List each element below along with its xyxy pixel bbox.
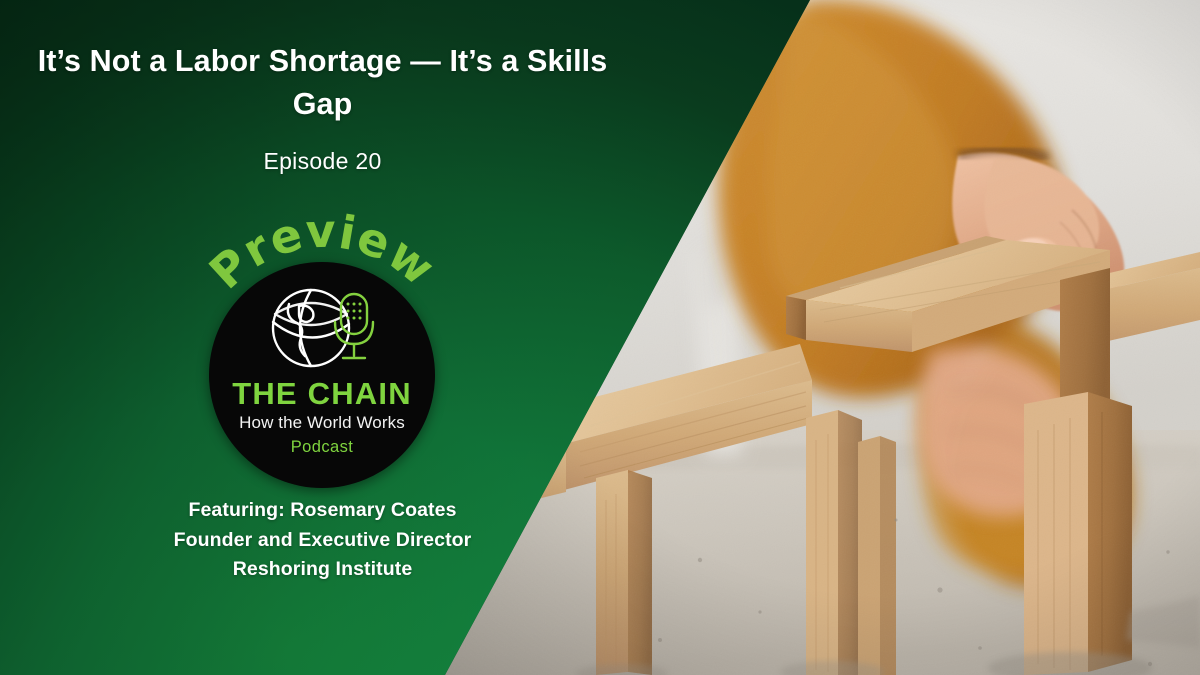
- featuring-block: Featuring: Rosemary Coates Founder and E…: [0, 496, 645, 585]
- format-label: Podcast: [209, 439, 435, 456]
- brand-tagline: How the World Works: [209, 414, 435, 431]
- microphone-grille-dots: [347, 303, 362, 320]
- guest-name-line: Featuring: Rosemary Coates: [0, 496, 645, 526]
- guest-role-line: Founder and Executive Director: [0, 526, 645, 556]
- page-title: It’s Not a Labor Shortage — It’s a Skill…: [0, 40, 645, 127]
- brand-name: THE CHAIN: [209, 378, 435, 409]
- guest-org-line: Reshoring Institute: [0, 555, 645, 585]
- episode-number: Episode 20: [0, 148, 645, 175]
- podcast-logo-badge: Preview: [187, 196, 459, 488]
- globe-microphone-mark: [255, 282, 389, 374]
- logo-disc: THE CHAIN How the World Works Podcast: [209, 262, 435, 488]
- podcast-episode-card: It’s Not a Labor Shortage — It’s a Skill…: [0, 0, 1200, 675]
- globe-icon: [273, 290, 349, 366]
